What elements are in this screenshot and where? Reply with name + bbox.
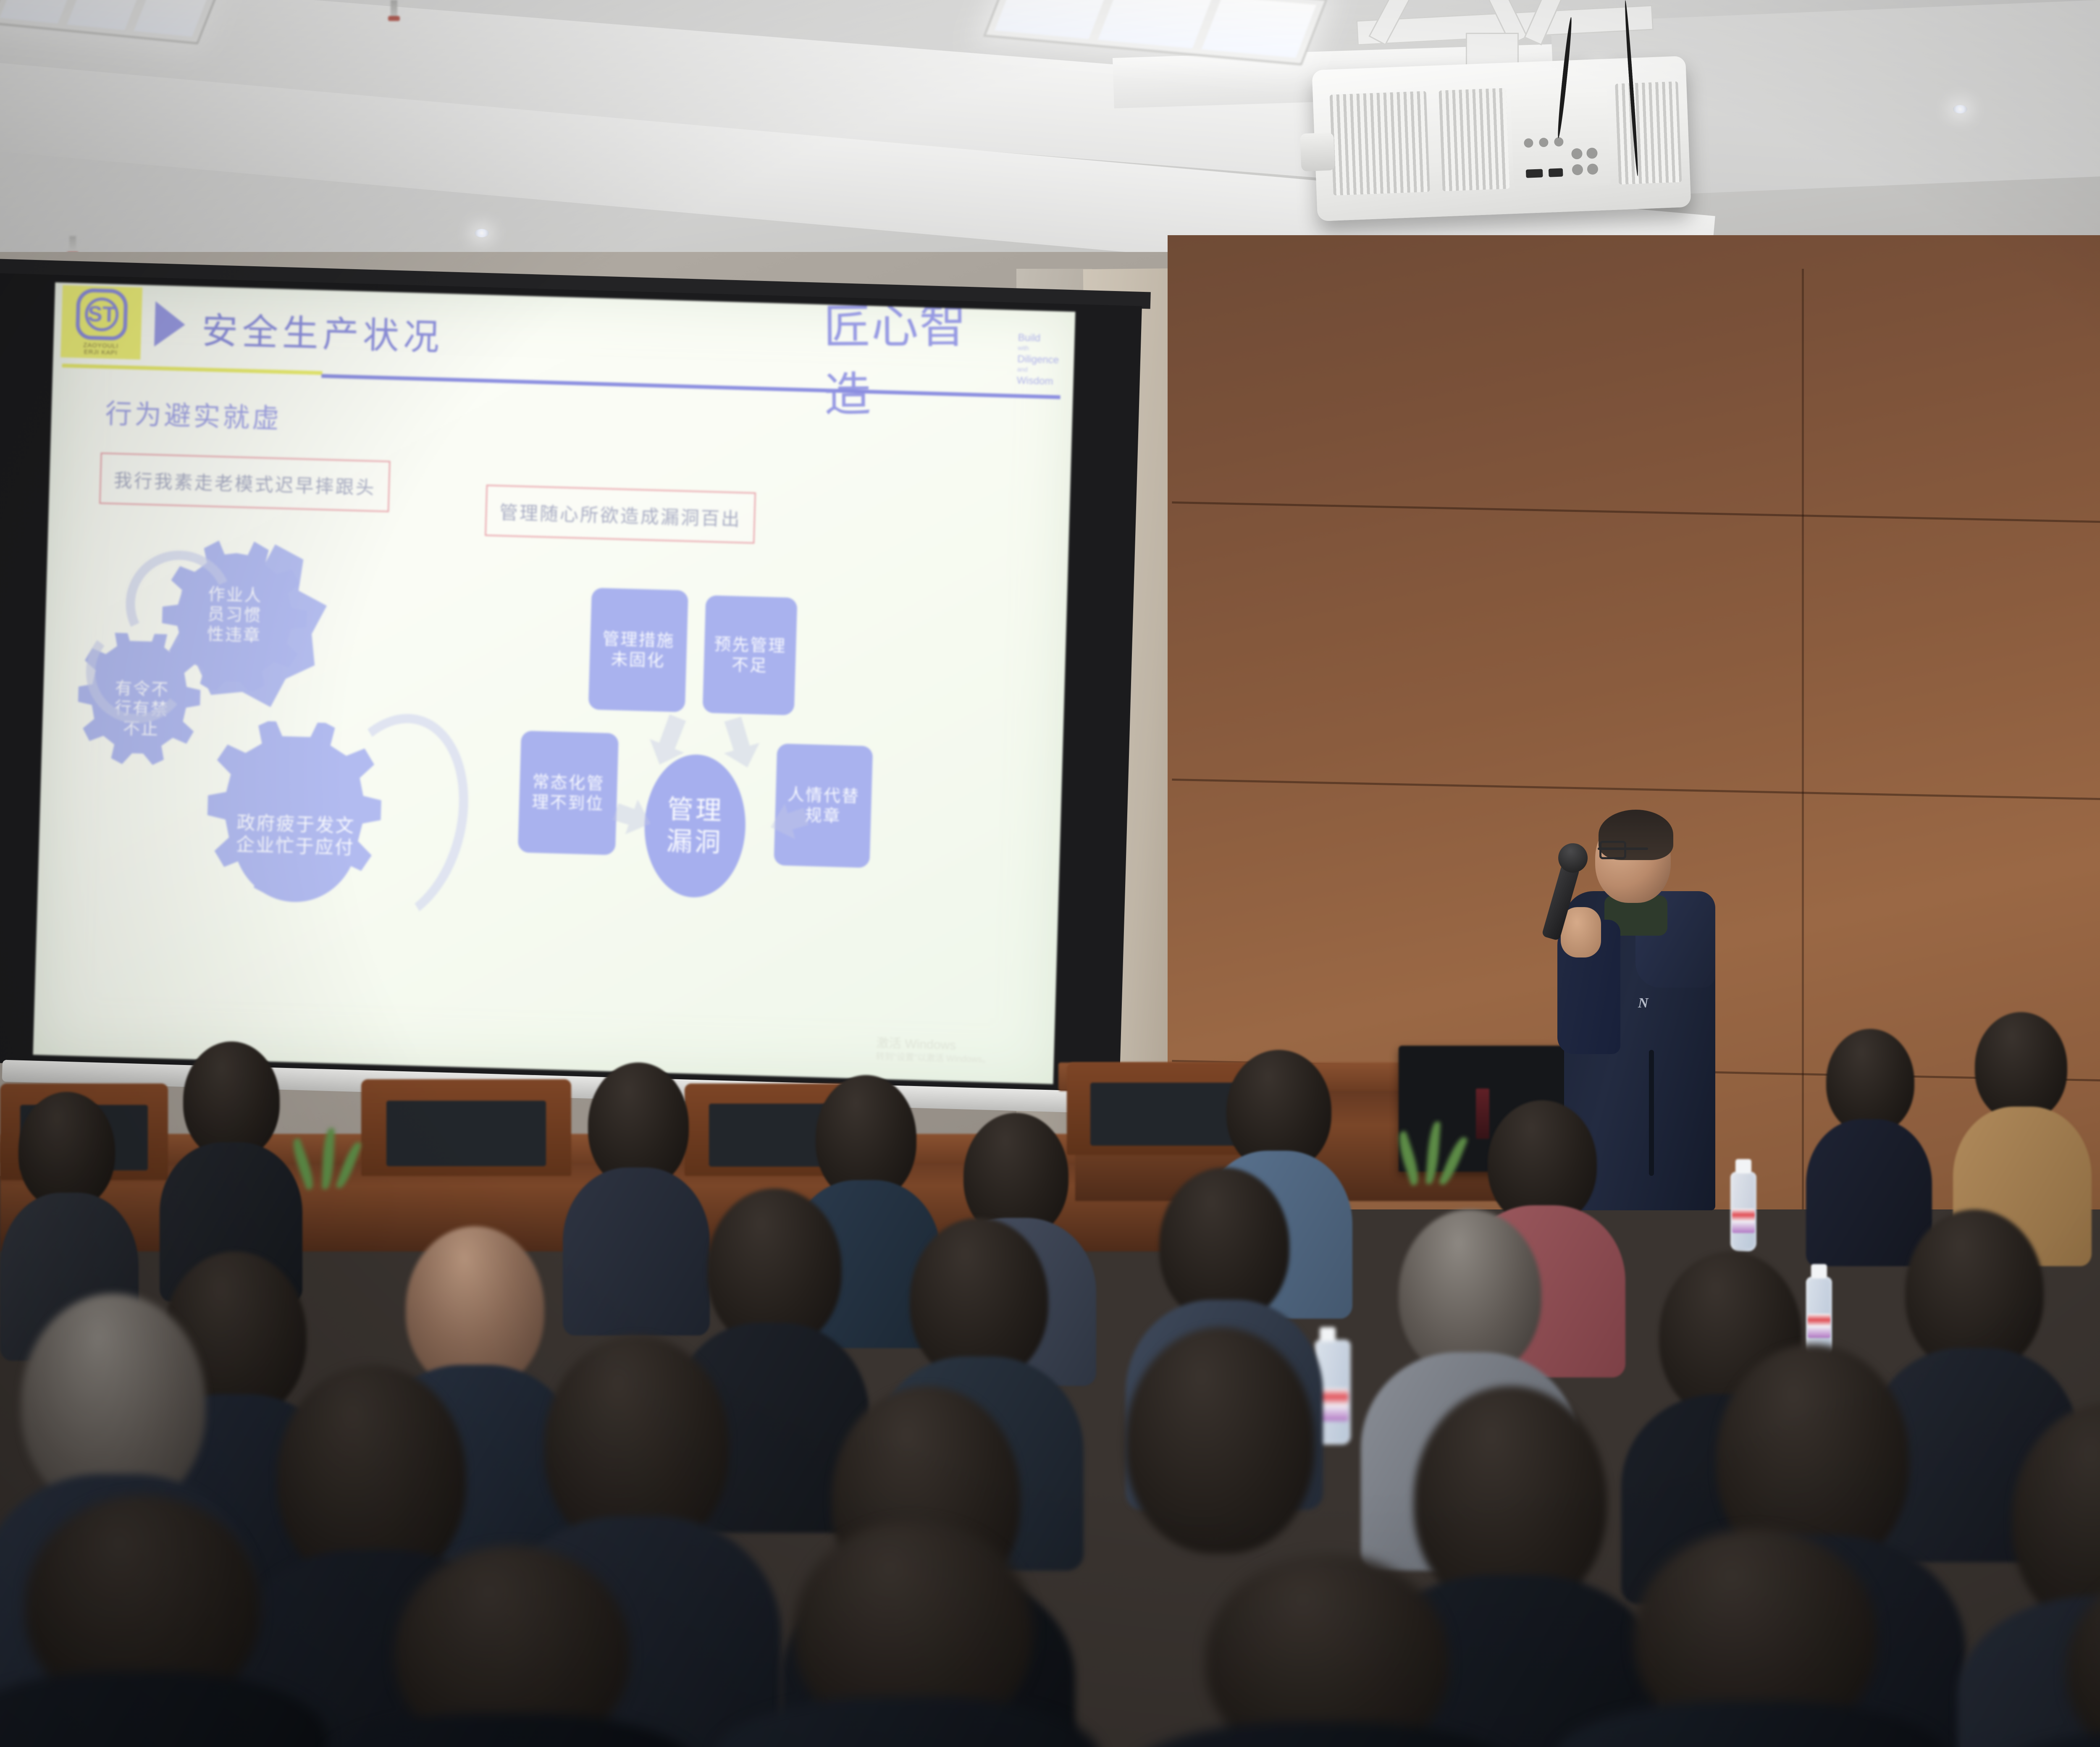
org-logo-letters: ST — [87, 303, 116, 326]
org-logo-icon: ST — [76, 288, 128, 341]
wall-seam — [1802, 269, 1804, 1209]
jacket-zipper — [1649, 1050, 1654, 1176]
divider-yellow — [62, 364, 323, 375]
projector-lens — [1300, 132, 1335, 171]
projector-vent — [1615, 81, 1682, 185]
water-bottle — [1730, 1172, 1756, 1251]
audience-member — [1554, 1529, 1949, 1747]
org-badge: ST ZAOYOULI ERJI KAPI — [60, 285, 142, 359]
projector-vent — [1439, 88, 1510, 191]
potted-plant — [1394, 1113, 1470, 1193]
audience-member — [1982, 1562, 2100, 1747]
audience-member — [319, 1545, 697, 1747]
windows-activation-watermark: 激活 Windows 转到"设置"以激活 Windows。 — [876, 1036, 992, 1066]
slide-canvas: ST ZAOYOULI ERJI KAPI 安全生产状况 匠心智造 Build … — [33, 282, 1075, 1084]
management-diagram: 管理措施 未固化 预先管理 不足 常态化管 理不到位 人情代替 规章 管理 — [513, 586, 1042, 1046]
org-badge-subtext: ZAOYOULI ERJI KAPI — [83, 342, 119, 357]
projection-screen: ST ZAOYOULI ERJI KAPI 安全生产状况 匠心智造 Build … — [0, 273, 1142, 1095]
callout-box: 我行我素走老模式迟早摔跟头 — [99, 453, 390, 512]
brand-english-text: Build with Diligence and Wisdom — [1017, 332, 1060, 387]
potted-plant — [294, 1117, 365, 1197]
sprinkler-head — [391, 0, 397, 18]
callout-box: 管理随心所欲造成漏洞百出 — [485, 485, 756, 543]
audience-member — [0, 1495, 328, 1747]
ceiling-downlight — [1953, 105, 1967, 113]
audience-member — [1126, 1554, 1520, 1747]
gear-diagram: 作业人 员习惯 性违章 有令不 行有禁 不止 — [63, 535, 564, 1053]
triangle-bullet-icon — [154, 301, 186, 347]
screenshot-root: ST ZAOYOULI ERJI KAPI 安全生产状况 匠心智造 Build … — [0, 0, 2100, 1747]
slide-section-title: 安全生产状况 — [201, 301, 444, 360]
ceiling-downlight — [475, 229, 489, 237]
brand-logo: 匠心智造 Build with Diligence and Wisdom — [823, 314, 1060, 400]
presenter-hand — [1561, 907, 1601, 957]
diagram-arrows — [516, 586, 903, 916]
eyeglasses — [1598, 847, 1648, 850]
audience-member — [714, 1520, 1100, 1747]
slide-subtitle: 行为避实就虚 — [105, 392, 282, 436]
chair — [361, 1079, 571, 1176]
projector-vent — [1330, 91, 1430, 196]
jacket-brand-mark: N — [1638, 995, 1648, 1011]
